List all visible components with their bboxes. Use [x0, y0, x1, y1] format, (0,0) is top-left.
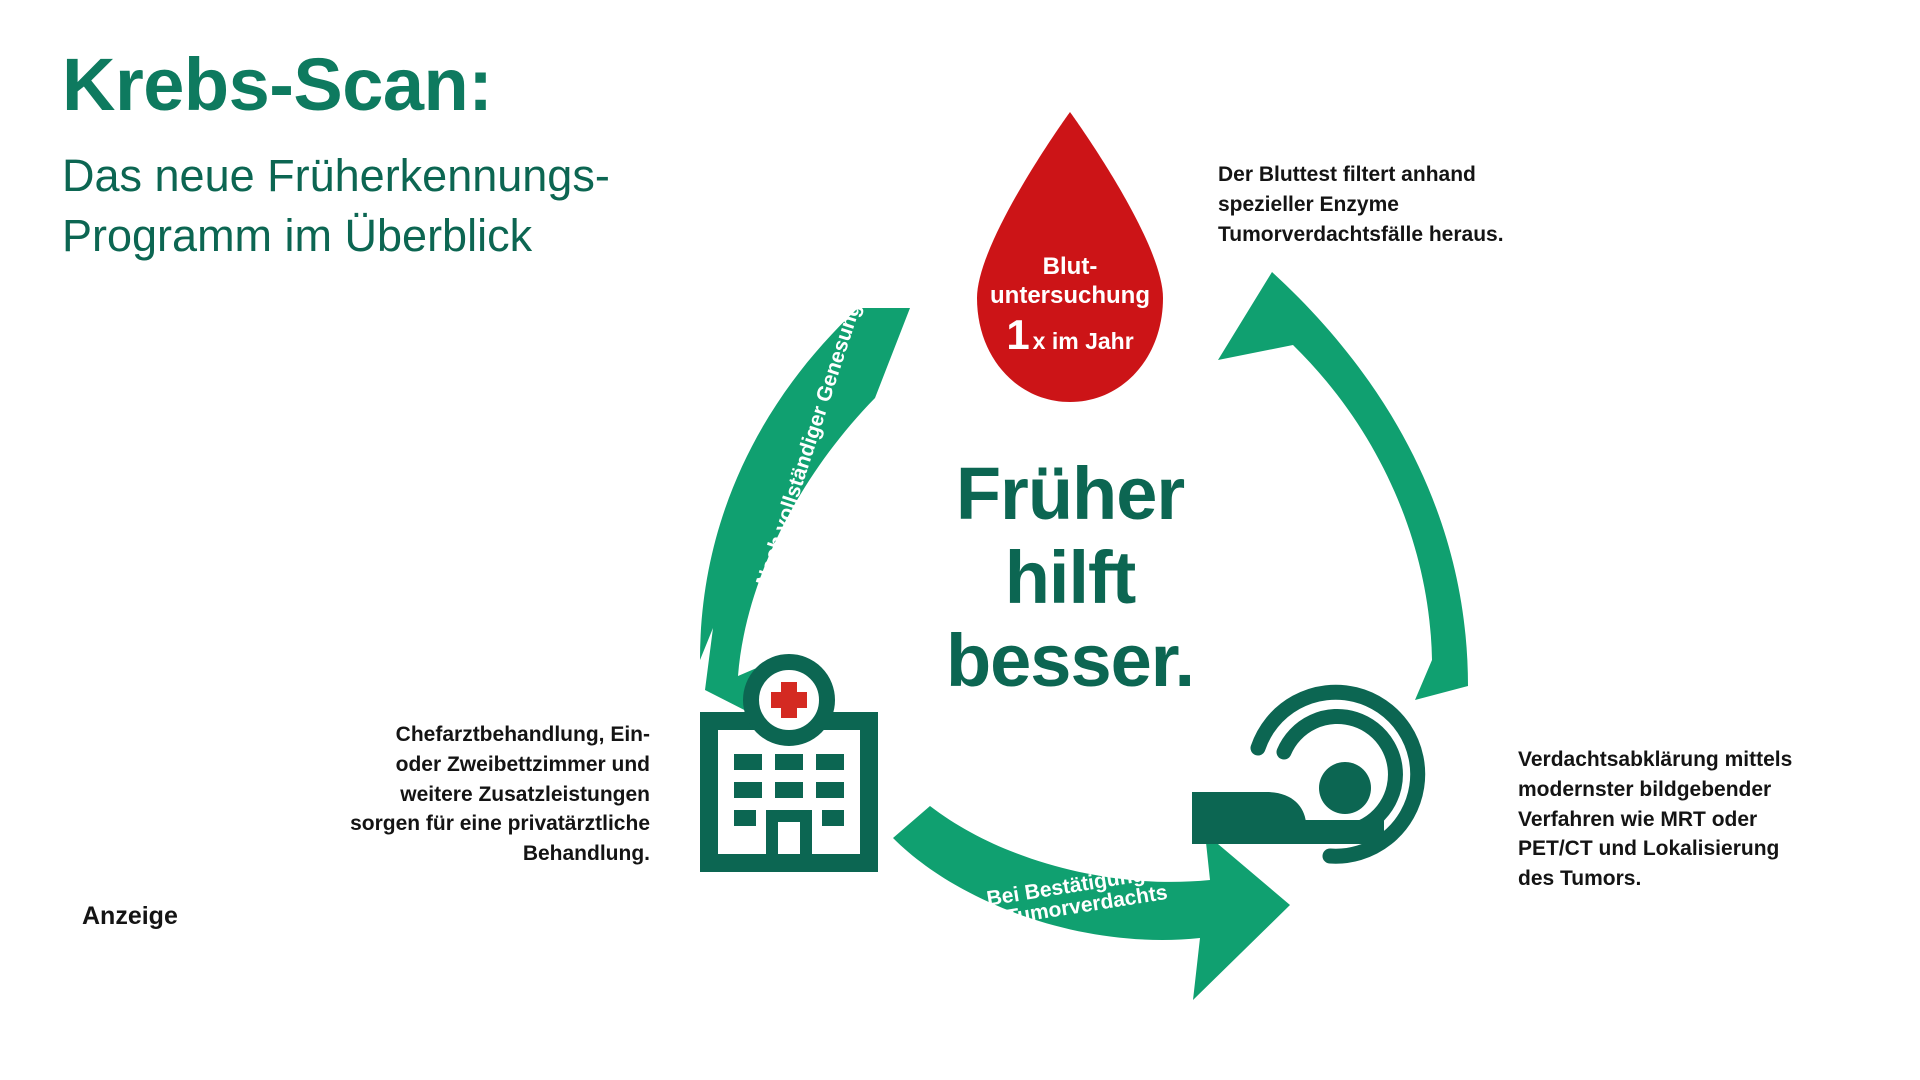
note-left-line-1: Chefarztbehandlung, Ein-	[330, 720, 650, 750]
note-right-line-3: Verfahren wie MRT oder	[1518, 805, 1848, 835]
hospital-icon	[700, 662, 878, 872]
note-right-line-2: modernster bildgebender	[1518, 775, 1848, 805]
note-left-line-4: sorgen für eine privatärztliche	[330, 809, 650, 839]
note-right: Verdachtsabklärung mittels modernster bi…	[1518, 745, 1848, 894]
note-left: Chefarztbehandlung, Ein- oder Zweibettzi…	[330, 720, 650, 869]
note-left-line-5: Behandlung.	[330, 839, 650, 869]
infographic-canvas: Krebs-Scan: Das neue Früherkennungs- Pro…	[0, 0, 1920, 1080]
mri-scanner-icon	[1192, 692, 1418, 856]
note-right-line-5: des Tumors.	[1518, 864, 1848, 894]
note-right-line-4: PET/CT und Lokalisierung	[1518, 834, 1848, 864]
note-right-line-1: Verdachtsabklärung mittels	[1518, 745, 1848, 775]
note-top-right-line-1: Der Bluttest filtert anhand	[1218, 160, 1538, 190]
note-top-right-line-3: Tumorverdachtsfälle heraus.	[1218, 220, 1538, 250]
icons-layer	[0, 0, 1920, 1080]
note-top-right-line-2: spezieller Enzyme	[1218, 190, 1538, 220]
note-left-line-3: weitere Zusatzleistungen	[330, 780, 650, 810]
note-top-right: Der Bluttest filtert anhand spezieller E…	[1218, 160, 1538, 249]
note-left-line-2: oder Zweibettzimmer und	[330, 750, 650, 780]
